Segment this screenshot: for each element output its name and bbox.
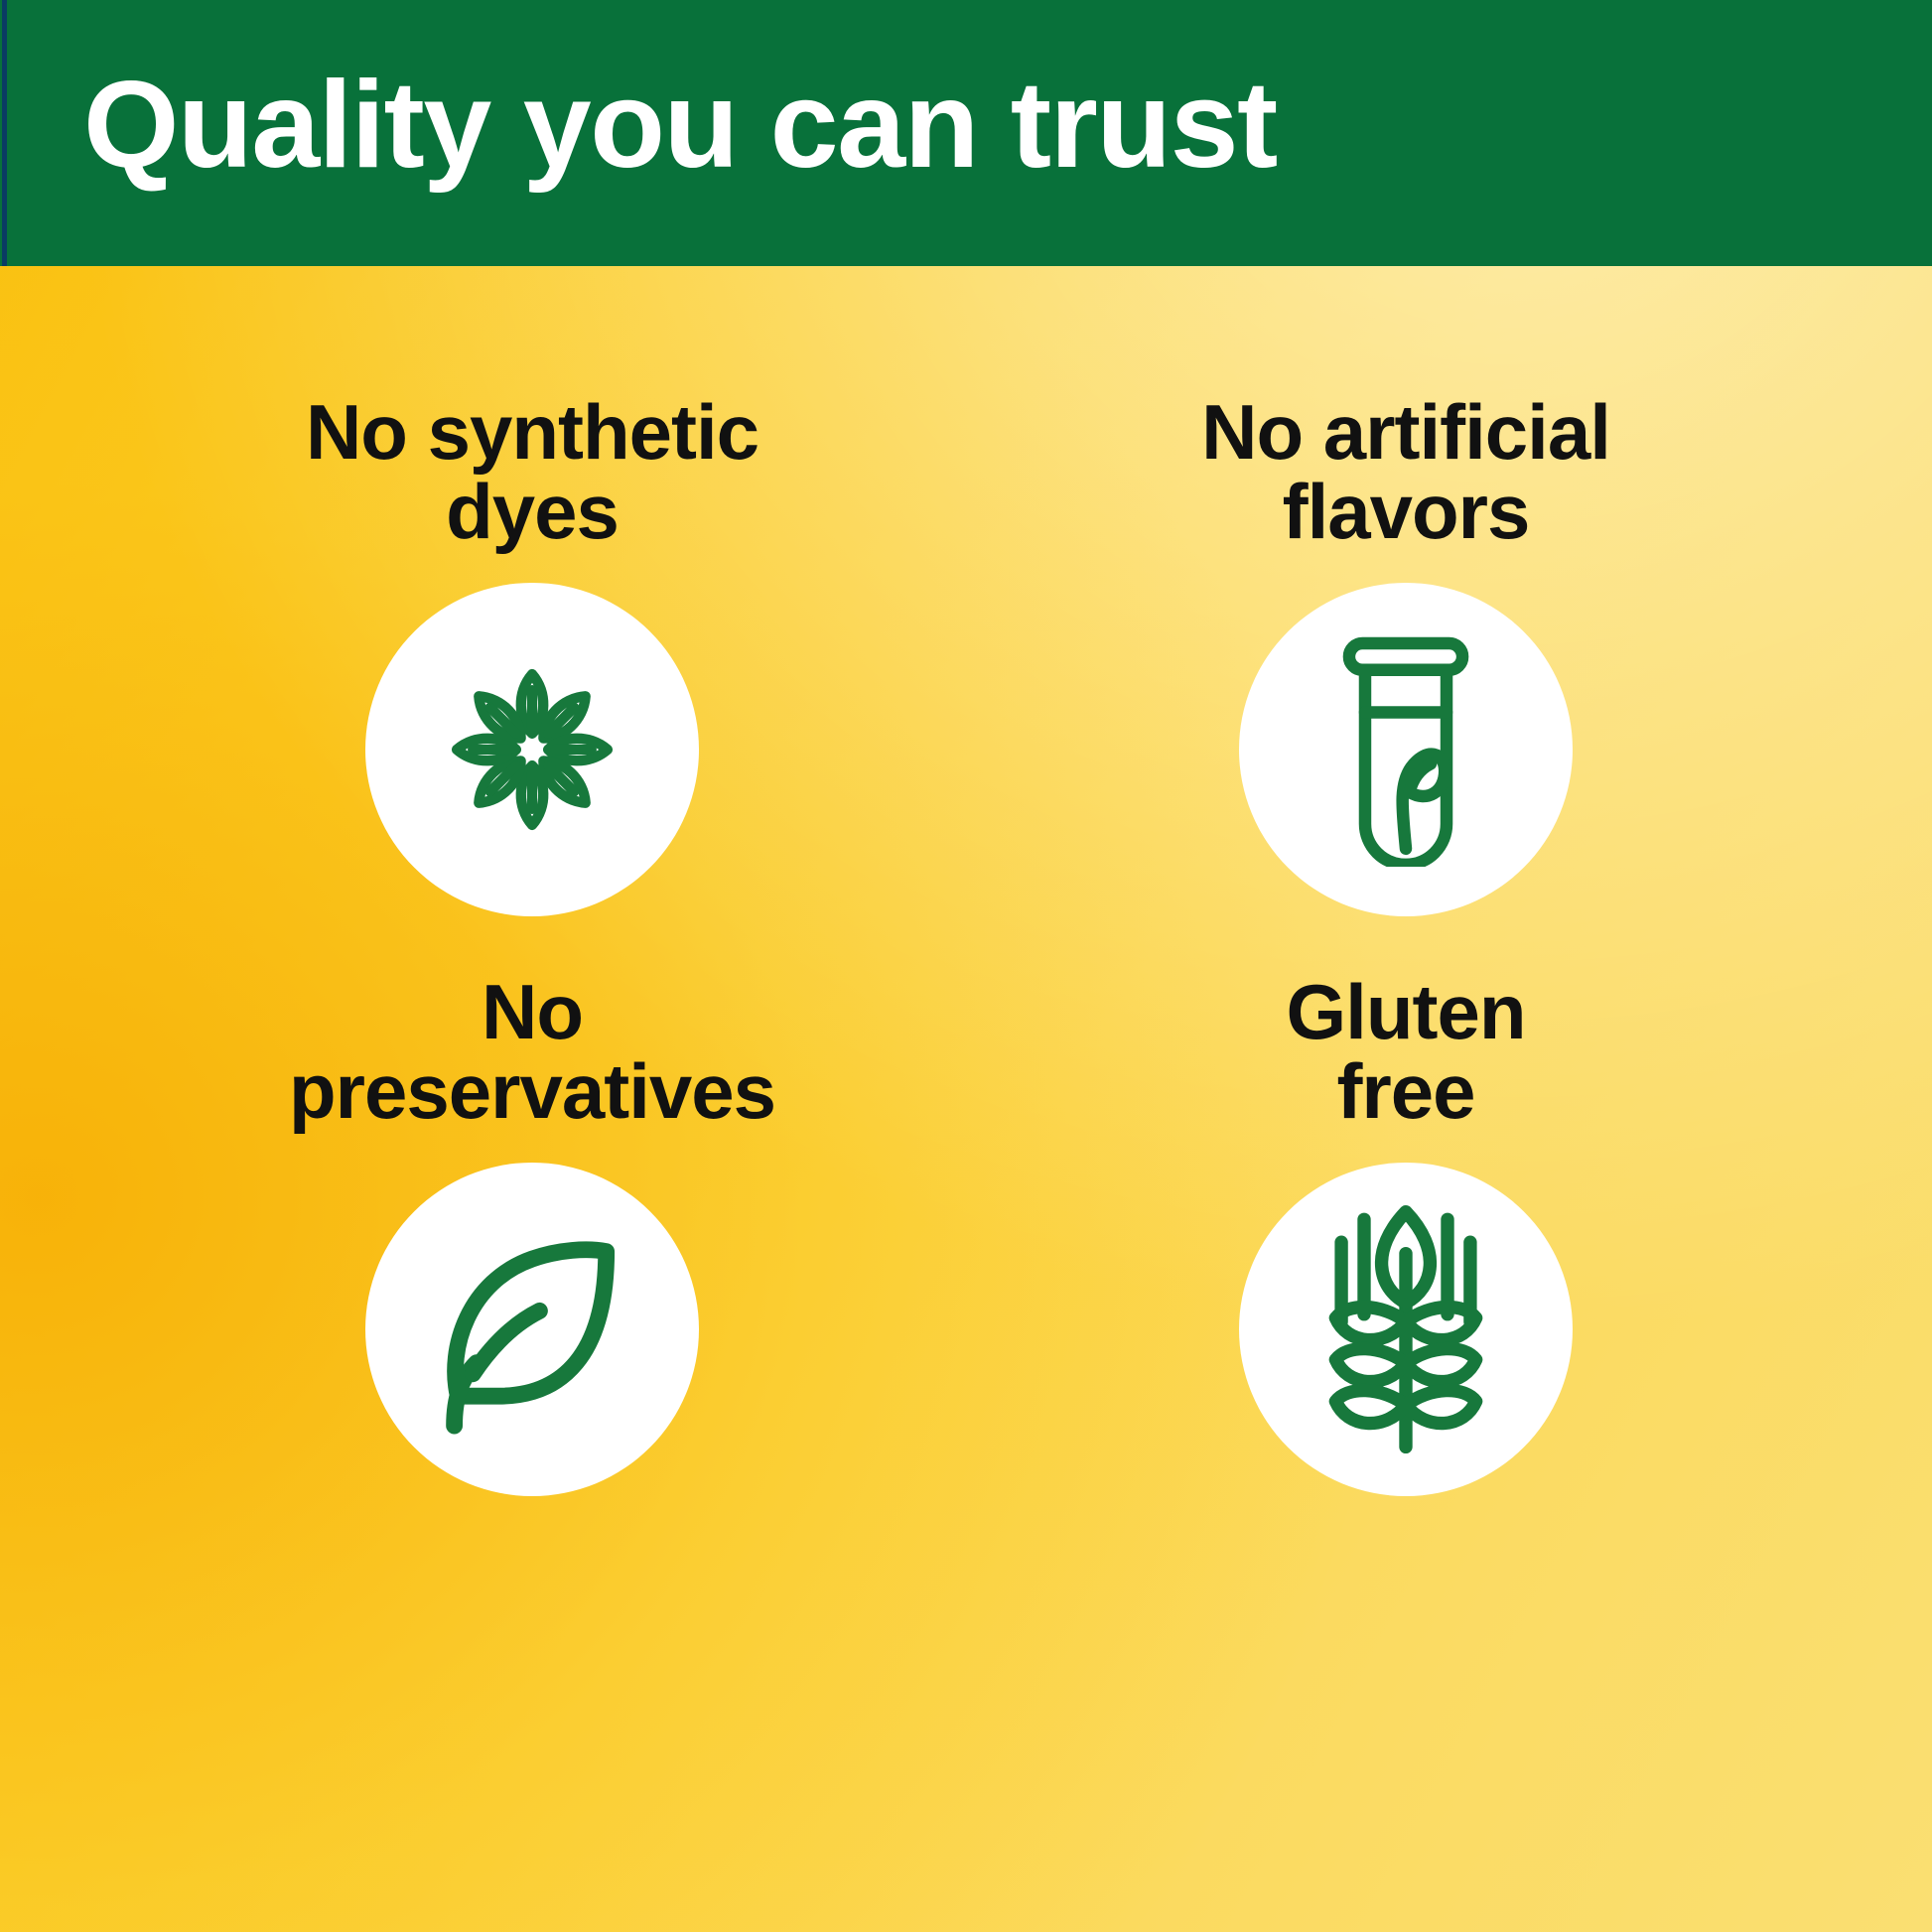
feature-grid: No synthetic dyes — [0, 266, 1932, 1932]
icon-disc-no-synthetic-dyes — [365, 583, 699, 916]
feature-label-no-preservatives: No preservatives — [214, 973, 850, 1131]
test-tube-icon — [1300, 632, 1512, 867]
feature-label-gluten-free: Gluten free — [1088, 973, 1724, 1131]
feature-item-no-preservatives: No preservatives — [95, 973, 969, 1496]
feature-label-no-artificial-flavors: No artificial flavors — [1088, 393, 1724, 551]
feature-label-no-synthetic-dyes: No synthetic dyes — [214, 393, 850, 551]
feature-item-no-artificial-flavors: No artificial flavors — [969, 393, 1843, 916]
dye-drops-icon — [418, 635, 646, 864]
wheat-icon — [1302, 1204, 1510, 1454]
icon-disc-no-artificial-flavors — [1239, 583, 1573, 916]
page-title: Quality you can trust — [83, 64, 1870, 187]
icon-disc-gluten-free — [1239, 1163, 1573, 1496]
feature-item-gluten-free: Gluten free — [969, 973, 1843, 1496]
quality-badges-panel: Quality you can trust No synthetic dyes — [0, 0, 1932, 1932]
feature-item-no-synthetic-dyes: No synthetic dyes — [95, 393, 969, 916]
header-band: Quality you can trust — [0, 0, 1932, 266]
leaf-icon — [421, 1218, 643, 1441]
header-edge-accent — [2, 0, 7, 266]
icon-disc-no-preservatives — [365, 1163, 699, 1496]
